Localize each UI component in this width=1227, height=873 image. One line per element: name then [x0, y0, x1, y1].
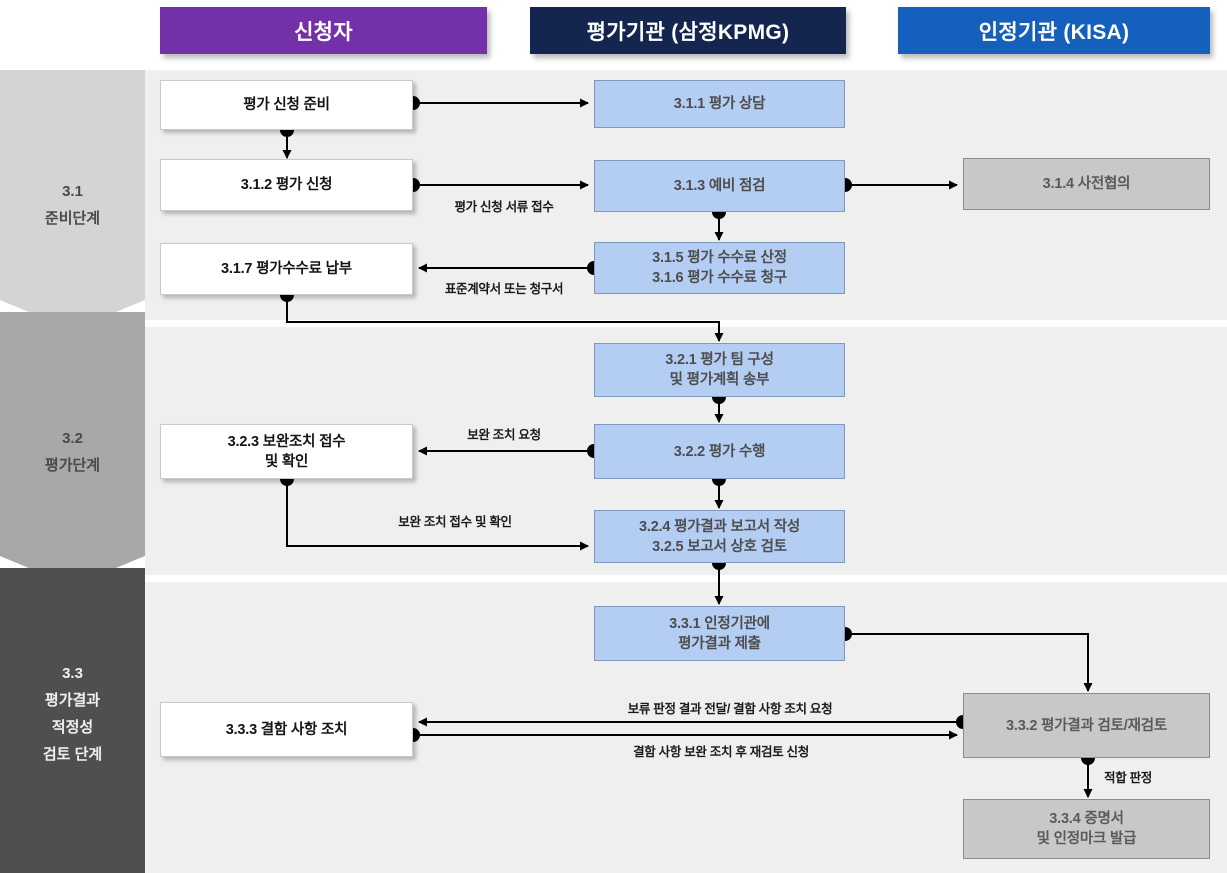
node-312[interactable]: 3.1.2 평가 신청 — [160, 159, 413, 211]
node-315-316[interactable]: 3.1.5 평가 수수료 산정 3.1.6 평가 수수료 청구 — [594, 242, 845, 294]
lane-header-applicant: 신청자 — [160, 7, 487, 54]
node-317[interactable]: 3.1.7 평가수수료 납부 — [160, 243, 413, 295]
node-prep[interactable]: 평가 신청 준비 — [160, 80, 413, 130]
edge-label-315-to-317: 표준계약서 또는 청구서 — [445, 278, 563, 297]
phase-33-name-2: 적정성 — [0, 714, 145, 741]
node-313-line-1: 3.1.3 예비 점검 — [674, 176, 765, 196]
node-316-line-2: 3.1.6 평가 수수료 청구 — [652, 268, 787, 288]
phase-label-31: 3.1 준비단계 — [0, 178, 145, 232]
node-334[interactable]: 3.3.4 증명서 및 인정마크 발급 — [963, 799, 1210, 859]
node-314-line-1: 3.1.4 사전협의 — [1043, 174, 1131, 194]
edge-label-333-to-332: 결함 사항 보완 조치 후 재검토 신청 — [633, 741, 809, 760]
node-312-line-1: 3.1.2 평가 신청 — [241, 175, 332, 195]
node-321-line-2: 및 평가계획 송부 — [670, 370, 770, 390]
node-332[interactable]: 3.3.2 평가결과 검토/재검토 — [963, 693, 1210, 758]
edge-label-322-to-323: 보완 조치 요청 — [467, 424, 541, 443]
node-321[interactable]: 3.2.1 평가 팀 구성 및 평가계획 송부 — [594, 343, 845, 397]
lane-label-accreditation: 인정기관 (KISA) — [979, 16, 1130, 46]
node-323-line-1: 3.2.3 보완조치 접수 — [228, 432, 346, 452]
phase-33-num: 3.3 — [0, 660, 145, 687]
node-333[interactable]: 3.3.3 결함 사항 조치 — [160, 702, 413, 757]
phase-33-name-1: 평가결과 — [0, 687, 145, 714]
node-314[interactable]: 3.1.4 사전협의 — [963, 158, 1210, 210]
edge-label-332-to-334: 적합 판정 — [1104, 767, 1152, 786]
edge-label-323-to-324: 보완 조치 접수 및 확인 — [398, 511, 512, 530]
node-323-line-2: 및 확인 — [265, 452, 308, 472]
node-317-line-1: 3.1.7 평가수수료 납부 — [221, 259, 352, 279]
node-333-line-1: 3.3.3 결함 사항 조치 — [226, 720, 348, 740]
phase-label-32: 3.2 평가단계 — [0, 425, 145, 479]
node-prep-line-1: 평가 신청 준비 — [243, 95, 330, 115]
flowchart-canvas: 신청자 평가기관 (삼정KPMG) 인정기관 (KISA) 3.1 준비단계 3… — [0, 0, 1227, 873]
node-322-line-1: 3.2.2 평가 수행 — [674, 442, 765, 462]
node-331-line-2: 평가결과 제출 — [678, 634, 761, 654]
phase-32-num: 3.2 — [0, 425, 145, 452]
lane-header-assessor: 평가기관 (삼정KPMG) — [530, 7, 846, 54]
node-311[interactable]: 3.1.1 평가 상담 — [594, 80, 845, 128]
phase-33-name-3: 검토 단계 — [0, 741, 145, 768]
node-324-325[interactable]: 3.2.4 평가결과 보고서 작성 3.2.5 보고서 상호 검토 — [594, 510, 845, 563]
phase-label-33: 3.3 평가결과 적정성 검토 단계 — [0, 660, 145, 768]
lane-label-applicant: 신청자 — [294, 16, 353, 46]
phase-32-name: 평가단계 — [0, 452, 145, 479]
lane-label-assessor: 평가기관 (삼정KPMG) — [587, 16, 790, 46]
node-324-line-1: 3.2.4 평가결과 보고서 작성 — [639, 517, 800, 537]
phase-31-num: 3.1 — [0, 178, 145, 205]
node-334-line-1: 3.3.4 증명서 — [1049, 809, 1124, 829]
node-323[interactable]: 3.2.3 보완조치 접수 및 확인 — [160, 424, 413, 479]
node-325-line-2: 3.2.5 보고서 상호 검토 — [652, 537, 787, 557]
node-332-line-1: 3.3.2 평가결과 검토/재검토 — [1006, 716, 1167, 736]
node-313[interactable]: 3.1.3 예비 점검 — [594, 160, 845, 212]
node-311-line-1: 3.1.1 평가 상담 — [674, 94, 765, 114]
node-322[interactable]: 3.2.2 평가 수행 — [594, 424, 845, 479]
lane-header-accreditation: 인정기관 (KISA) — [898, 7, 1210, 54]
edge-331-to-332 — [845, 634, 1088, 691]
edge-317-to-321 — [287, 295, 719, 341]
node-321-line-1: 3.2.1 평가 팀 구성 — [665, 350, 773, 370]
node-331-line-1: 3.3.1 인정기관에 — [669, 614, 770, 634]
node-315-line-1: 3.1.5 평가 수수료 산정 — [652, 248, 787, 268]
edge-label-332-to-333: 보류 판정 결과 전달/ 결함 사항 조치 요청 — [628, 698, 833, 717]
node-331[interactable]: 3.3.1 인정기관에 평가결과 제출 — [594, 606, 845, 661]
phase-31-name: 준비단계 — [0, 205, 145, 232]
edge-label-312-to-313: 평가 신청 서류 접수 — [454, 196, 553, 215]
node-334-line-2: 및 인정마크 발급 — [1037, 829, 1137, 849]
